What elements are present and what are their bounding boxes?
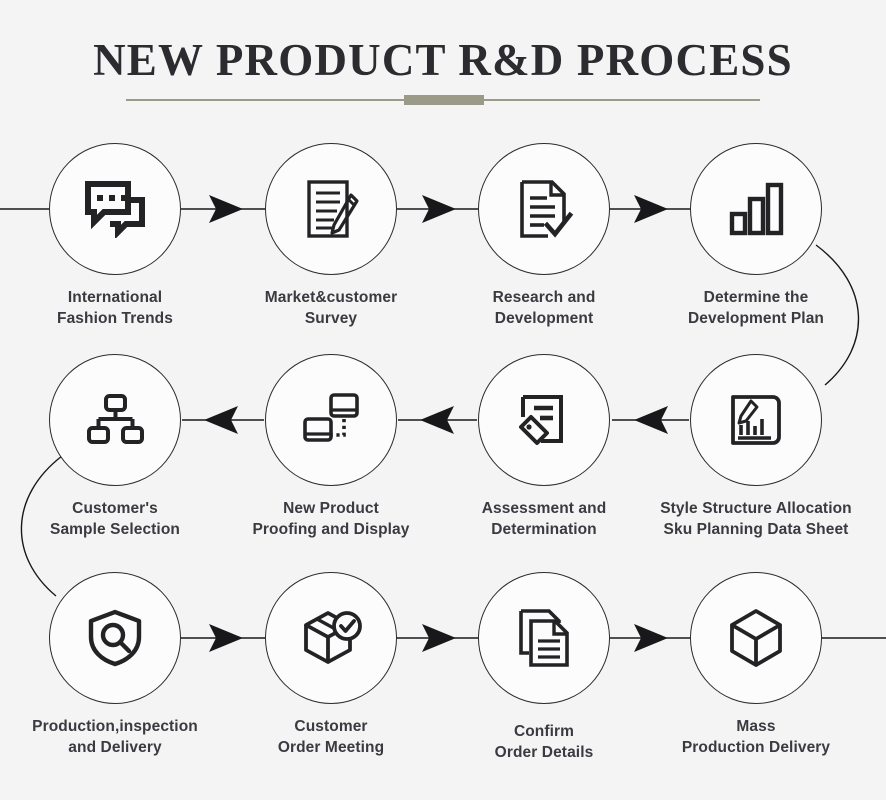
step-2-circle[interactable] bbox=[265, 143, 397, 275]
arrow-2-3-icon bbox=[422, 195, 456, 223]
step-node-1[interactable]: International Fashion Trends bbox=[33, 143, 197, 329]
step-4-label: Determine the Development Plan bbox=[674, 288, 838, 329]
process-diagram-canvas: NEW PRODUCT R&D PROCESS bbox=[0, 0, 886, 800]
step-8-label: Customer's Sample Selection bbox=[33, 499, 197, 540]
arrow-1-2-icon bbox=[209, 195, 243, 223]
step-2-label: Market&customer Survey bbox=[249, 288, 413, 329]
step-node-10[interactable]: Customer Order Meeting bbox=[249, 572, 413, 758]
monitors-network-icon bbox=[301, 391, 361, 449]
hierarchy-icon bbox=[85, 392, 145, 448]
step-node-11[interactable]: Confirm Order Details bbox=[462, 572, 626, 763]
step-1-circle[interactable] bbox=[49, 143, 181, 275]
document-tag-icon bbox=[515, 391, 573, 449]
step-6-circle[interactable] bbox=[478, 354, 610, 486]
step-9-circle[interactable] bbox=[49, 572, 181, 704]
step-8-circle[interactable] bbox=[49, 354, 181, 486]
page-title: NEW PRODUCT R&D PROCESS bbox=[0, 38, 886, 83]
step-10-label: Customer Order Meeting bbox=[249, 717, 413, 758]
step-3-circle[interactable] bbox=[478, 143, 610, 275]
step-5-label: Style Structure Allocation Sku Planning … bbox=[646, 499, 866, 540]
step-5-circle[interactable] bbox=[690, 354, 822, 486]
step-node-5[interactable]: Style Structure Allocation Sku Planning … bbox=[646, 354, 866, 540]
step-node-6[interactable]: Assessment and Determination bbox=[462, 354, 626, 540]
step-9-label: Production,inspection and Delivery bbox=[5, 717, 225, 758]
arrow-11-12-icon bbox=[634, 624, 668, 652]
arrow-6-7-icon bbox=[420, 406, 454, 434]
title-divider-accent bbox=[404, 95, 484, 105]
document-check-icon bbox=[514, 178, 574, 240]
step-3-label: Research and Development bbox=[462, 288, 626, 329]
step-4-circle[interactable] bbox=[690, 143, 822, 275]
box-check-icon bbox=[300, 608, 362, 668]
arrow-3-4-icon bbox=[634, 195, 668, 223]
cube-3d-icon bbox=[727, 607, 785, 669]
step-7-circle[interactable] bbox=[265, 354, 397, 486]
shield-search-icon bbox=[85, 608, 145, 668]
copy-documents-icon bbox=[515, 607, 573, 669]
chat-bubbles-icon bbox=[84, 180, 146, 238]
step-6-label: Assessment and Determination bbox=[462, 499, 626, 540]
step-node-12[interactable]: Mass Production Delivery bbox=[674, 572, 838, 758]
step-11-circle[interactable] bbox=[478, 572, 610, 704]
step-12-circle[interactable] bbox=[690, 572, 822, 704]
chart-pencil-board-icon bbox=[727, 391, 785, 449]
step-node-8[interactable]: Customer's Sample Selection bbox=[33, 354, 197, 540]
step-7-label: New Product Proofing and Display bbox=[249, 499, 413, 540]
step-1-label: International Fashion Trends bbox=[33, 288, 197, 329]
arrow-7-8-icon bbox=[204, 406, 238, 434]
page-title-block: NEW PRODUCT R&D PROCESS bbox=[0, 38, 886, 83]
step-10-circle[interactable] bbox=[265, 572, 397, 704]
arrow-10-11-icon bbox=[422, 624, 456, 652]
step-12-label: Mass Production Delivery bbox=[674, 717, 838, 758]
step-node-3[interactable]: Research and Development bbox=[462, 143, 626, 329]
step-node-9[interactable]: Production,inspection and Delivery bbox=[5, 572, 225, 758]
step-node-4[interactable]: Determine the Development Plan bbox=[674, 143, 838, 329]
bar-chart-icon bbox=[726, 181, 786, 237]
step-node-2[interactable]: Market&customer Survey bbox=[249, 143, 413, 329]
document-pencil-icon bbox=[301, 178, 361, 240]
step-11-label: Confirm Order Details bbox=[462, 722, 626, 763]
step-node-7[interactable]: New Product Proofing and Display bbox=[249, 354, 413, 540]
